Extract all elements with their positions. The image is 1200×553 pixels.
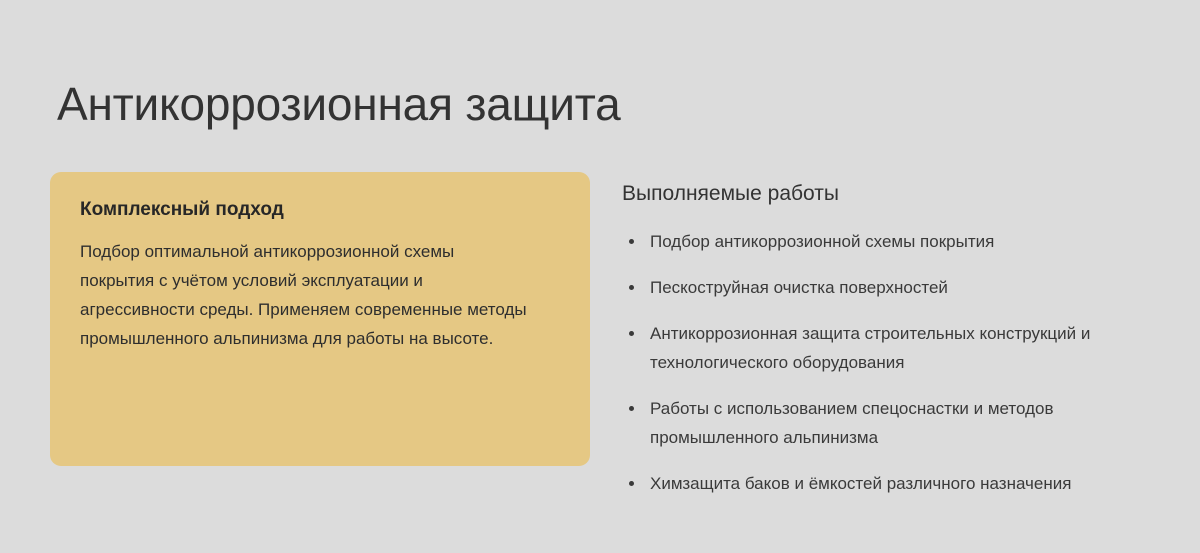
bullet-dot-icon xyxy=(629,239,634,244)
list-item: Подбор антикоррозионной схемы покрытия xyxy=(622,227,1152,256)
bullet-dot-icon xyxy=(629,285,634,290)
works-list: Подбор антикоррозионной схемы покрытия П… xyxy=(622,227,1152,498)
works-section: Выполняемые работы Подбор антикоррозионн… xyxy=(622,180,1152,498)
list-item-label: Антикоррозионная защита строительных кон… xyxy=(650,324,1090,372)
list-item-label: Пескоструйная очистка поверхностей xyxy=(650,278,948,297)
list-item-label: Работы с использованием спецоснастки и м… xyxy=(650,399,1053,447)
page-root: Антикоррозионная защита Комплексный подх… xyxy=(0,0,1200,553)
highlight-card: Комплексный подход Подбор оптимальной ан… xyxy=(50,172,590,466)
page-title: Антикоррозионная защита xyxy=(57,77,621,131)
bullet-dot-icon xyxy=(629,481,634,486)
list-item-label: Химзащита баков и ёмкостей различного на… xyxy=(650,474,1071,493)
list-item: Антикоррозионная защита строительных кон… xyxy=(622,319,1152,377)
list-item: Химзащита баков и ёмкостей различного на… xyxy=(622,469,1152,498)
list-item: Работы с использованием спецоснастки и м… xyxy=(622,394,1152,452)
highlight-card-body: Подбор оптимальной антикоррозионной схем… xyxy=(80,237,530,353)
works-heading: Выполняемые работы xyxy=(622,180,1152,207)
list-item-label: Подбор антикоррозионной схемы покрытия xyxy=(650,232,994,251)
list-item: Пескоструйная очистка поверхностей xyxy=(622,273,1152,302)
highlight-card-heading: Комплексный подход xyxy=(80,198,560,223)
bullet-dot-icon xyxy=(629,406,634,411)
bullet-dot-icon xyxy=(629,331,634,336)
